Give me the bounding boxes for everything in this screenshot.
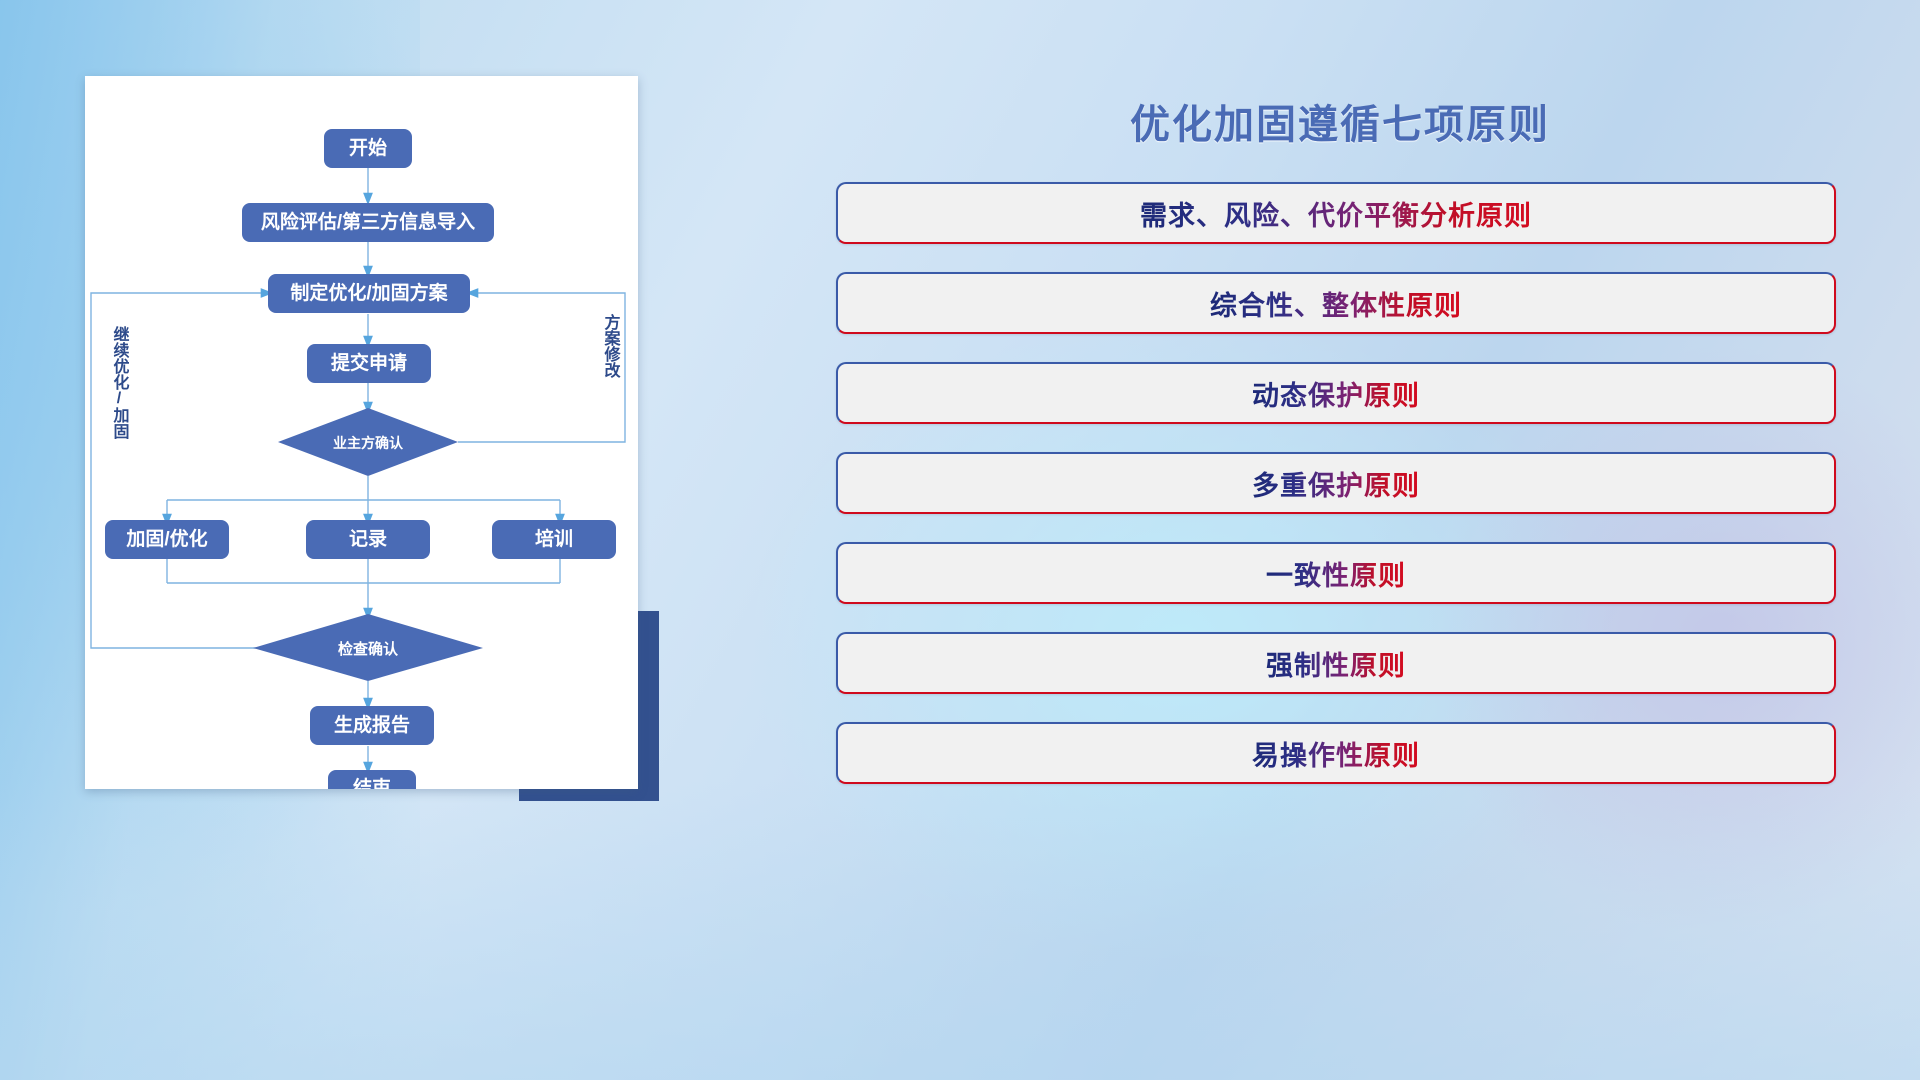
flow-node-report[interactable]: 生成报告 (310, 706, 434, 745)
flow-node-check[interactable]: 检查确认 (253, 614, 483, 681)
principle-item-4[interactable]: 多重保护原则 (836, 452, 1836, 514)
principle-label: 动态保护原则 (1252, 374, 1420, 413)
flow-node-check-label: 检查确认 (338, 640, 399, 658)
flow-node-submit[interactable]: 提交申请 (307, 344, 431, 383)
flow-node-owner-confirm[interactable]: 业主方确认 (278, 408, 458, 476)
flow-edge-label-revise: 方案修改 (602, 313, 622, 379)
flow-node-plan-label: 制定优化/加固方案 (290, 281, 448, 304)
principle-item-2[interactable]: 综合性、整体性原则 (836, 272, 1836, 334)
flow-node-end[interactable]: 结束 (328, 770, 416, 789)
flow-node-training[interactable]: 培训 (492, 520, 616, 559)
principle-item-6[interactable]: 强制性原则 (836, 632, 1836, 694)
principle-label: 易操作性原则 (1252, 734, 1420, 773)
principles-panel: 优化加固遵循七项原则 需求、风险、代价平衡分析原则 综合性、整体性原则 动态保护… (760, 0, 1920, 1080)
flow-node-record-label: 记录 (349, 528, 387, 550)
flow-node-record[interactable]: 记录 (306, 520, 430, 559)
flow-node-start[interactable]: 开始 (324, 129, 412, 168)
principle-item-3[interactable]: 动态保护原则 (836, 362, 1836, 424)
flow-node-end-label: 结束 (353, 776, 392, 789)
flow-node-plan[interactable]: 制定优化/加固方案 (268, 274, 470, 313)
flow-node-reinforce-label: 加固/优化 (125, 527, 207, 550)
flow-node-owner-confirm-label: 业主方确认 (333, 435, 404, 451)
flow-node-report-label: 生成报告 (334, 713, 410, 736)
principle-label: 一致性原则 (1266, 554, 1406, 593)
flow-node-training-label: 培训 (535, 527, 573, 550)
flow-node-reinforce[interactable]: 加固/优化 (105, 520, 229, 559)
principle-item-5[interactable]: 一致性原则 (836, 542, 1836, 604)
flow-node-submit-label: 提交申请 (331, 351, 407, 374)
flowchart-card: 开始 风险评估/第三方信息导入 制定优化/加固方案 提交申请 (85, 76, 638, 789)
flow-node-risk[interactable]: 风险评估/第三方信息导入 (242, 203, 494, 242)
flowchart-panel: 开始 风险评估/第三方信息导入 制定优化/加固方案 提交申请 (0, 0, 760, 1080)
principles-list: 需求、风险、代价平衡分析原则 综合性、整体性原则 动态保护原则 多重保护原则 一… (836, 182, 1836, 812)
page-title: 优化加固遵循七项原则 (760, 92, 1920, 150)
flowchart-canvas: 开始 风险评估/第三方信息导入 制定优化/加固方案 提交申请 (85, 76, 638, 789)
principle-label: 综合性、整体性原则 (1210, 284, 1462, 323)
principle-item-7[interactable]: 易操作性原则 (836, 722, 1836, 784)
principle-item-1[interactable]: 需求、风险、代价平衡分析原则 (836, 182, 1836, 244)
principle-label: 多重保护原则 (1252, 464, 1420, 503)
flow-node-start-label: 开始 (349, 136, 387, 159)
principle-label: 需求、风险、代价平衡分析原则 (1140, 194, 1532, 233)
flow-edge-label-continue: 继续优化/加固 (111, 325, 131, 440)
principle-label: 强制性原则 (1266, 644, 1406, 683)
flow-node-risk-label: 风险评估/第三方信息导入 (261, 210, 475, 233)
